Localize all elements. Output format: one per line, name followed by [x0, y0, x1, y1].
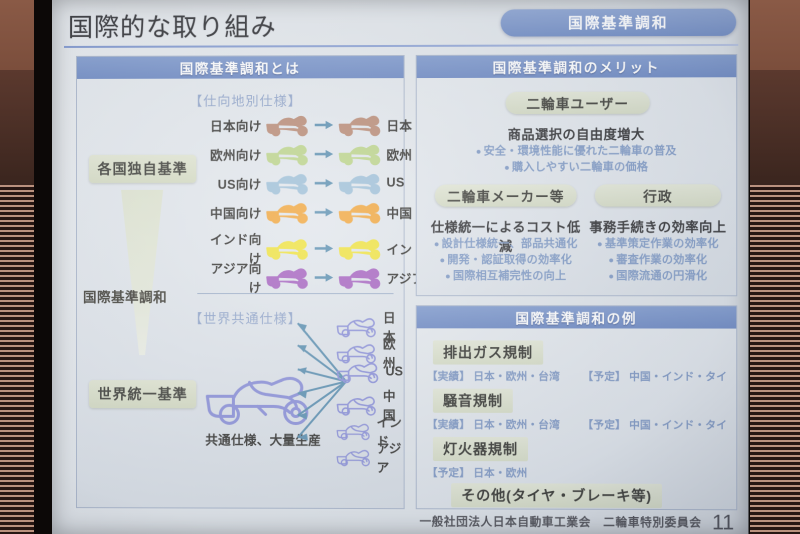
motorcycle-icon	[338, 112, 382, 136]
done-value: 日本・欧州・台湾	[473, 419, 560, 431]
title-underline	[64, 44, 738, 48]
example-note-lighting: 【予定】 日本・欧州	[427, 465, 528, 480]
panel-merits: 国際基準調和のメリット 二輪車ユーザー 商品選択の自由度増大 安全・環境性能に優…	[416, 54, 738, 296]
section-label-global-spec: 【世界共通仕様】	[189, 308, 302, 327]
arrow-right-icon	[314, 206, 334, 217]
regional-spec-row: アジア向けアジア	[205, 258, 427, 296]
done-label: 【実績】	[427, 371, 470, 383]
plan-label: 【予定】	[583, 419, 626, 431]
motorcycle-icon	[336, 445, 372, 469]
merit-pill-government: 行政	[595, 184, 721, 206]
example-tag-emissions: 排出ガス規制	[433, 340, 543, 364]
row-source-label: US向け	[205, 173, 261, 192]
slide-topic-badge: 国際基準調和	[501, 9, 737, 37]
plan-label: 【予定】	[583, 371, 626, 383]
plan-value: 中国・インド・タイ	[629, 371, 727, 383]
arrow-right-icon	[314, 242, 334, 253]
room-band-right	[742, 0, 800, 70]
merit-bullet: 設計仕様統一、部品共通化	[427, 237, 585, 253]
regional-spec-row: 欧州向け欧州	[205, 141, 427, 165]
example-tag-other: その他(タイヤ・ブレーキ等)	[451, 483, 662, 508]
motorcycle-icon	[338, 200, 382, 224]
label-harmonization: 国際基準調和	[83, 286, 167, 306]
page-title: 国際的な取り組み	[68, 7, 277, 44]
projected-slide-photo: 国際的な取り組み 国際基準調和 国際基準調和とは 【仕向地別仕様】 各国独自基準…	[0, 0, 800, 534]
arrow-right-icon	[314, 119, 334, 130]
merit-bullet: 購入しやすい二輪車の価格	[417, 160, 736, 176]
fan-target-item: US	[336, 359, 403, 383]
fan-target-item: アジア	[336, 438, 407, 476]
arrow-right-icon	[314, 177, 334, 188]
page-number: 11	[712, 511, 734, 534]
pill-global-standard: 世界統一基準	[89, 380, 196, 408]
motorcycle-icon	[266, 112, 310, 136]
merit-bullet: 開発・認証取得の効率化	[427, 253, 585, 269]
motorcycle-icon	[338, 265, 382, 289]
arrow-right-icon	[314, 272, 334, 283]
example-note-noise: 【実績】 日本・欧州・台湾 【予定】 中国・インド・タイ	[427, 417, 727, 433]
merit-bullet: 国際流通の円滑化	[589, 269, 727, 285]
row-source-label: アジア向け	[205, 258, 261, 296]
motorcycle-icon	[338, 171, 382, 195]
motorcycle-icon	[338, 141, 382, 165]
merit-bullets-users: 安全・環境性能に優れた二輪車の普及 購入しやすい二輪車の価格	[417, 144, 736, 177]
fan-target-label: アジア	[377, 438, 407, 476]
panel-examples: 国際基準調和の例 排出ガス規制 【実績】 日本・欧州・台湾 【予定】 中国・イン…	[416, 305, 738, 510]
merit-headline-users: 商品選択の自由度増大	[417, 124, 736, 144]
merit-bullet: 審査作業の効率化	[589, 253, 727, 269]
merit-bullets-government: 基準策定作業の効率化 審査作業の効率化 国際流通の円滑化	[589, 237, 727, 285]
motorcycle-icon	[266, 265, 310, 289]
row-source-label: 中国向け	[205, 202, 261, 221]
merit-pill-makers: 二輪車メーカー等	[435, 184, 577, 206]
window-blinds-right	[742, 185, 800, 534]
row-source-label: 欧州向け	[205, 144, 261, 163]
regional-spec-row: US向けUS	[205, 171, 427, 195]
done-label: 【実績】	[427, 419, 470, 431]
motorcycle-icon	[336, 359, 380, 383]
done-label: 【予定】	[427, 467, 470, 479]
example-tag-noise: 騒音規制	[433, 389, 513, 413]
done-value: 日本・欧州	[473, 467, 527, 479]
merit-bullets-makers: 設計仕様統一、部品共通化 開発・認証取得の効率化 国際相互補完性の向上	[427, 237, 585, 285]
fan-target-label: US	[385, 364, 403, 378]
pill-national-standards: 各国独自基準	[89, 155, 196, 183]
panel-merit-header: 国際基準調和のメリット	[417, 55, 736, 78]
plan-value: 中国・インド・タイ	[629, 419, 727, 431]
done-value: 日本・欧州・台湾	[473, 371, 560, 383]
merit-bullet: 基準策定作業の効率化	[589, 237, 727, 253]
fan-target-list: 日本欧州US中国インドアジア	[336, 307, 407, 468]
motorcycle-icon	[266, 236, 310, 260]
regional-spec-row: 日本向け日本	[205, 112, 427, 137]
regional-spec-row: 中国向け中国	[205, 200, 427, 224]
merit-headline-government: 事務手続きの効率向上	[589, 217, 727, 236]
section-label-regional-spec: 【仕向地別仕様】	[189, 90, 302, 109]
panel-examples-header: 国際基準調和の例	[417, 306, 736, 328]
motorcycle-icon	[338, 236, 382, 260]
slide-canvas: 国際的な取り組み 国際基準調和 国際基準調和とは 【仕向地別仕様】 各国独自基準…	[52, 0, 748, 534]
panel-what-is-harmonization: 国際基準調和とは 【仕向地別仕様】 各国独自基準 国際基準調和 世界統一基準 【…	[76, 55, 405, 509]
motorcycle-icon	[266, 171, 310, 195]
funnel-shape	[121, 190, 163, 355]
merit-pill-users: 二輪車ユーザー	[506, 92, 650, 114]
motorcycle-icon	[266, 200, 310, 224]
motorcycle-icon	[266, 142, 310, 166]
arrow-right-icon	[314, 148, 334, 159]
organization-footer: 一般社団法人日本自動車工業会 二輪車特別委員会	[419, 513, 701, 530]
row-source-label: 日本向け	[205, 115, 261, 134]
example-note-emissions: 【実績】 日本・欧州・台湾 【予定】 中国・インド・タイ	[427, 369, 727, 385]
panel-left-header: 国際基準調和とは	[77, 56, 404, 79]
merit-bullet: 安全・環境性能に優れた二輪車の普及	[417, 144, 736, 161]
example-tag-lighting: 灯火器規制	[433, 437, 528, 461]
merit-bullet: 国際相互補完性の向上	[427, 269, 585, 285]
